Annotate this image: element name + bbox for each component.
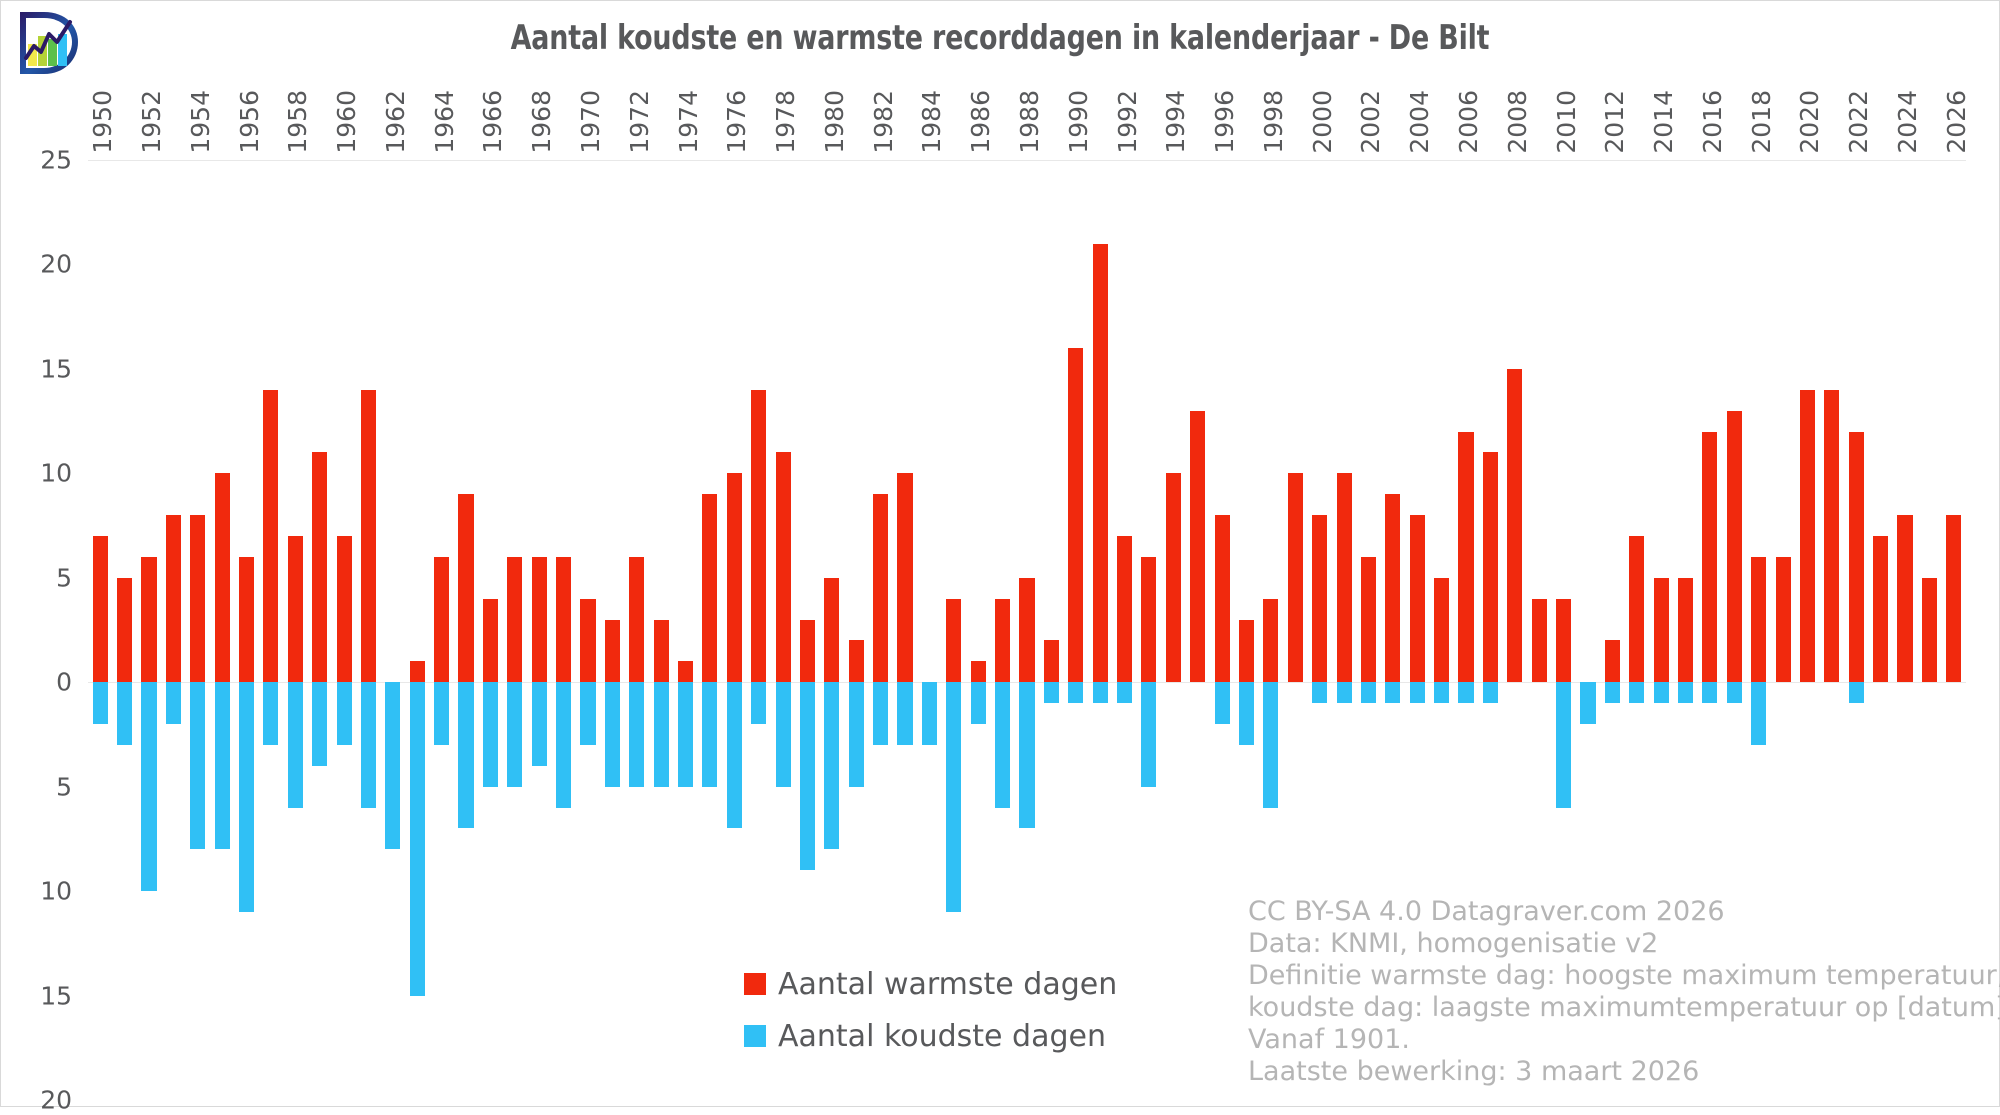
bar-cold-1982 <box>873 682 888 745</box>
bar-warm-1998 <box>1263 599 1278 683</box>
bar-warm-1977 <box>751 390 766 682</box>
bar-warm-1972 <box>629 557 644 682</box>
bar-warm-1995 <box>1190 411 1205 683</box>
bar-warm-2015 <box>1678 578 1693 682</box>
x-axis-tick-label: 2014 <box>1649 90 1678 154</box>
bar-cold-1971 <box>605 682 620 786</box>
footer-line-3: Definitie warmste dag: hoogste maximum t… <box>1248 960 2000 992</box>
bar-warm-2024 <box>1897 515 1912 682</box>
bar-warm-2006 <box>1458 432 1473 683</box>
bar-warm-2009 <box>1532 599 1547 683</box>
bar-warm-1965 <box>458 494 473 682</box>
x-axis-tick-label: 1990 <box>1064 90 1093 154</box>
bar-warm-2002 <box>1361 557 1376 682</box>
bar-warm-2008 <box>1507 369 1522 682</box>
x-axis-tick-label: 1952 <box>137 90 166 154</box>
y-axis-tick-label: 25 <box>40 146 72 175</box>
y-axis-tick-label: 5 <box>56 772 72 801</box>
datagraver-logo <box>14 8 84 78</box>
bar-warm-2022 <box>1849 432 1864 683</box>
bar-warm-1981 <box>849 640 864 682</box>
bar-warm-1950 <box>93 536 108 682</box>
bar-warm-1979 <box>800 620 815 683</box>
x-axis-tick-label: 1958 <box>283 90 312 154</box>
bar-warm-1985 <box>946 599 961 683</box>
x-axis-tick-label: 2004 <box>1405 90 1434 154</box>
bar-cold-1993 <box>1141 682 1156 786</box>
bar-cold-1981 <box>849 682 864 786</box>
bar-warm-2025 <box>1922 578 1937 682</box>
bar-cold-2004 <box>1410 682 1425 703</box>
bar-cold-1953 <box>166 682 181 724</box>
bar-warm-2004 <box>1410 515 1425 682</box>
bar-cold-1955 <box>215 682 230 849</box>
y-axis-tick-label: 20 <box>40 1086 72 1115</box>
bar-cold-1975 <box>702 682 717 786</box>
chart-legend: Aantal warmste dagenAantal koudste dagen <box>744 958 1117 1062</box>
legend-label: Aantal warmste dagen <box>778 967 1117 1002</box>
legend-item-warm[interactable]: Aantal warmste dagen <box>744 958 1117 1010</box>
bar-warm-2023 <box>1873 536 1888 682</box>
x-axis-tick-label: 1956 <box>235 90 264 154</box>
legend-swatch-icon <box>744 973 766 995</box>
x-axis-tick-label: 1986 <box>966 90 995 154</box>
bar-cold-2011 <box>1580 682 1595 724</box>
y-axis-tick-label: 10 <box>40 459 72 488</box>
x-axis-tick-label: 1964 <box>430 90 459 154</box>
x-axis-tick-label: 1950 <box>88 90 117 154</box>
bar-warm-1996 <box>1215 515 1230 682</box>
bar-cold-1976 <box>727 682 742 828</box>
bar-cold-1985 <box>946 682 961 912</box>
bar-cold-1969 <box>556 682 571 807</box>
legend-swatch-icon <box>744 1025 766 1047</box>
bar-cold-1951 <box>117 682 132 745</box>
attribution-footer: CC BY-SA 4.0 Datagraver.com 2026Data: KN… <box>1248 896 2000 1088</box>
x-axis-tick-label: 1966 <box>478 90 507 154</box>
bar-cold-1972 <box>629 682 644 786</box>
bar-cold-2005 <box>1434 682 1449 703</box>
bar-warm-2020 <box>1800 390 1815 682</box>
bar-cold-2013 <box>1629 682 1644 703</box>
bar-warm-1955 <box>215 473 230 682</box>
bar-warm-1956 <box>239 557 254 682</box>
bar-cold-1956 <box>239 682 254 912</box>
bar-cold-1978 <box>776 682 791 786</box>
x-axis-tick-label: 2016 <box>1698 90 1727 154</box>
bar-cold-2022 <box>1849 682 1864 703</box>
bar-warm-1982 <box>873 494 888 682</box>
bar-cold-2002 <box>1361 682 1376 703</box>
bar-cold-1950 <box>93 682 108 724</box>
bar-cold-1952 <box>141 682 156 891</box>
bar-warm-1970 <box>580 599 595 683</box>
x-axis-tick-label: 2010 <box>1552 90 1581 154</box>
bar-cold-1988 <box>1019 682 1034 828</box>
bar-warm-1976 <box>727 473 742 682</box>
bar-cold-1964 <box>434 682 449 745</box>
bar-cold-2012 <box>1605 682 1620 703</box>
bar-warm-2016 <box>1702 432 1717 683</box>
bar-cold-1998 <box>1263 682 1278 807</box>
bar-warm-1986 <box>971 661 986 682</box>
bar-cold-1965 <box>458 682 473 828</box>
footer-line-5: Vanaf 1901. <box>1248 1024 2000 1056</box>
bar-warm-1961 <box>361 390 376 682</box>
y-axis-tick-label: 10 <box>40 877 72 906</box>
x-axis-tick-label: 2020 <box>1795 90 1824 154</box>
bar-cold-2007 <box>1483 682 1498 703</box>
bar-cold-1958 <box>288 682 303 807</box>
x-axis-tick-label: 2012 <box>1600 90 1629 154</box>
x-axis-tick-label: 1970 <box>576 90 605 154</box>
bar-warm-2007 <box>1483 452 1498 682</box>
bar-cold-1977 <box>751 682 766 724</box>
x-axis-tick-label: 1962 <box>381 90 410 154</box>
x-axis-tick-label: 1988 <box>1015 90 1044 154</box>
bar-cold-1991 <box>1093 682 1108 703</box>
bar-cold-1997 <box>1239 682 1254 745</box>
bar-warm-1989 <box>1044 640 1059 682</box>
bar-warm-1966 <box>483 599 498 683</box>
x-axis-tick-label: 2022 <box>1844 90 1873 154</box>
bar-warm-1971 <box>605 620 620 683</box>
bar-warm-1980 <box>824 578 839 682</box>
bar-cold-1986 <box>971 682 986 724</box>
bar-warm-1983 <box>897 473 912 682</box>
footer-line-2: Data: KNMI, homogenisatie v2 <box>1248 928 2000 960</box>
x-axis-tick-label: 1968 <box>527 90 556 154</box>
bar-cold-1979 <box>800 682 815 870</box>
y-axis-labels: 25201510505101520 <box>0 160 86 1100</box>
bar-cold-2010 <box>1556 682 1571 807</box>
bar-cold-1967 <box>507 682 522 786</box>
y-axis-tick-label: 15 <box>40 981 72 1010</box>
x-axis-tick-label: 1976 <box>722 90 751 154</box>
bar-cold-1954 <box>190 682 205 849</box>
footer-line-1: CC BY-SA 4.0 Datagraver.com 2026 <box>1248 896 2000 928</box>
bar-cold-1966 <box>483 682 498 786</box>
x-axis-labels: 1950195219541956195819601962196419661968… <box>88 0 1966 160</box>
bar-cold-2000 <box>1312 682 1327 703</box>
bar-warm-1952 <box>141 557 156 682</box>
bar-cold-1974 <box>678 682 693 786</box>
bar-warm-1978 <box>776 452 791 682</box>
x-axis-tick-label: 1982 <box>869 90 898 154</box>
x-axis-tick-label: 1974 <box>674 90 703 154</box>
bar-cold-1987 <box>995 682 1010 807</box>
bar-cold-2015 <box>1678 682 1693 703</box>
bar-warm-1953 <box>166 515 181 682</box>
bar-warm-1999 <box>1288 473 1303 682</box>
bar-cold-1960 <box>337 682 352 745</box>
bar-cold-2014 <box>1654 682 1669 703</box>
bar-warm-1992 <box>1117 536 1132 682</box>
y-axis-tick-label: 0 <box>56 668 72 697</box>
y-axis-tick-label: 20 <box>40 250 72 279</box>
bar-warm-1954 <box>190 515 205 682</box>
bar-warm-1960 <box>337 536 352 682</box>
x-axis-tick-label: 1996 <box>1210 90 1239 154</box>
bar-cold-1989 <box>1044 682 1059 703</box>
bar-warm-1973 <box>654 620 669 683</box>
legend-label: Aantal koudste dagen <box>778 1019 1106 1054</box>
x-axis-tick-label: 2000 <box>1308 90 1337 154</box>
bar-cold-2003 <box>1385 682 1400 703</box>
footer-line-4: koudste dag: laagste maximumtemperatuur … <box>1248 992 2000 1024</box>
bar-warm-1991 <box>1093 244 1108 683</box>
bar-warm-1958 <box>288 536 303 682</box>
bar-cold-1959 <box>312 682 327 766</box>
x-axis-tick-label: 1978 <box>771 90 800 154</box>
x-axis-tick-label: 1960 <box>332 90 361 154</box>
bar-warm-1963 <box>410 661 425 682</box>
bar-warm-1994 <box>1166 473 1181 682</box>
x-axis-tick-label: 2006 <box>1454 90 1483 154</box>
bar-warm-2013 <box>1629 536 1644 682</box>
bar-warm-1993 <box>1141 557 1156 682</box>
x-axis-tick-label: 1998 <box>1259 90 1288 154</box>
bar-warm-1967 <box>507 557 522 682</box>
bar-cold-1961 <box>361 682 376 807</box>
bar-warm-2017 <box>1727 411 1742 683</box>
bar-warm-2026 <box>1946 515 1961 682</box>
bar-cold-2017 <box>1727 682 1742 703</box>
x-axis-tick-label: 1954 <box>186 90 215 154</box>
x-axis-tick-label: 2002 <box>1356 90 1385 154</box>
bar-cold-1957 <box>263 682 278 745</box>
bar-warm-2019 <box>1776 557 1791 682</box>
x-axis-tick-label: 1992 <box>1113 90 1142 154</box>
bar-warm-2003 <box>1385 494 1400 682</box>
bar-warm-2001 <box>1337 473 1352 682</box>
bar-cold-1963 <box>410 682 425 995</box>
bar-cold-1973 <box>654 682 669 786</box>
bar-warm-1968 <box>532 557 547 682</box>
y-axis-tick-label: 5 <box>56 563 72 592</box>
bar-warm-1969 <box>556 557 571 682</box>
bar-warm-1957 <box>263 390 278 682</box>
bar-warm-2012 <box>1605 640 1620 682</box>
bar-warm-2014 <box>1654 578 1669 682</box>
x-axis-tick-label: 2008 <box>1503 90 1532 154</box>
bar-cold-2001 <box>1337 682 1352 703</box>
footer-line-6: Laatste bewerking: 3 maart 2026 <box>1248 1056 2000 1088</box>
x-axis-tick-label: 1994 <box>1161 90 1190 154</box>
x-axis-tick-label: 2018 <box>1747 90 1776 154</box>
bar-cold-1980 <box>824 682 839 849</box>
bar-cold-1970 <box>580 682 595 745</box>
bar-warm-1990 <box>1068 348 1083 682</box>
bar-warm-1988 <box>1019 578 1034 682</box>
bar-warm-1975 <box>702 494 717 682</box>
x-axis-tick-label: 1980 <box>820 90 849 154</box>
bar-cold-1984 <box>922 682 937 745</box>
x-axis-tick-label: 2026 <box>1942 90 1971 154</box>
bar-cold-1962 <box>385 682 400 849</box>
bar-cold-1990 <box>1068 682 1083 703</box>
bar-warm-1974 <box>678 661 693 682</box>
x-axis-tick-label: 1972 <box>625 90 654 154</box>
bar-cold-1996 <box>1215 682 1230 724</box>
bar-warm-1951 <box>117 578 132 682</box>
x-axis-tick-label: 2024 <box>1893 90 1922 154</box>
y-axis-tick-label: 15 <box>40 354 72 383</box>
bar-cold-2016 <box>1702 682 1717 703</box>
bar-cold-1968 <box>532 682 547 766</box>
bar-cold-1983 <box>897 682 912 745</box>
bar-warm-2018 <box>1751 557 1766 682</box>
bar-cold-2018 <box>1751 682 1766 745</box>
bar-warm-2000 <box>1312 515 1327 682</box>
bar-warm-1997 <box>1239 620 1254 683</box>
bar-warm-1959 <box>312 452 327 682</box>
bar-warm-2010 <box>1556 599 1571 683</box>
bar-warm-1964 <box>434 557 449 682</box>
bar-cold-2006 <box>1458 682 1473 703</box>
bar-warm-1987 <box>995 599 1010 683</box>
x-axis-tick-label: 1984 <box>917 90 946 154</box>
legend-item-cold[interactable]: Aantal koudste dagen <box>744 1010 1117 1062</box>
bar-warm-2005 <box>1434 578 1449 682</box>
bar-warm-2021 <box>1824 390 1839 682</box>
bar-cold-1992 <box>1117 682 1132 703</box>
